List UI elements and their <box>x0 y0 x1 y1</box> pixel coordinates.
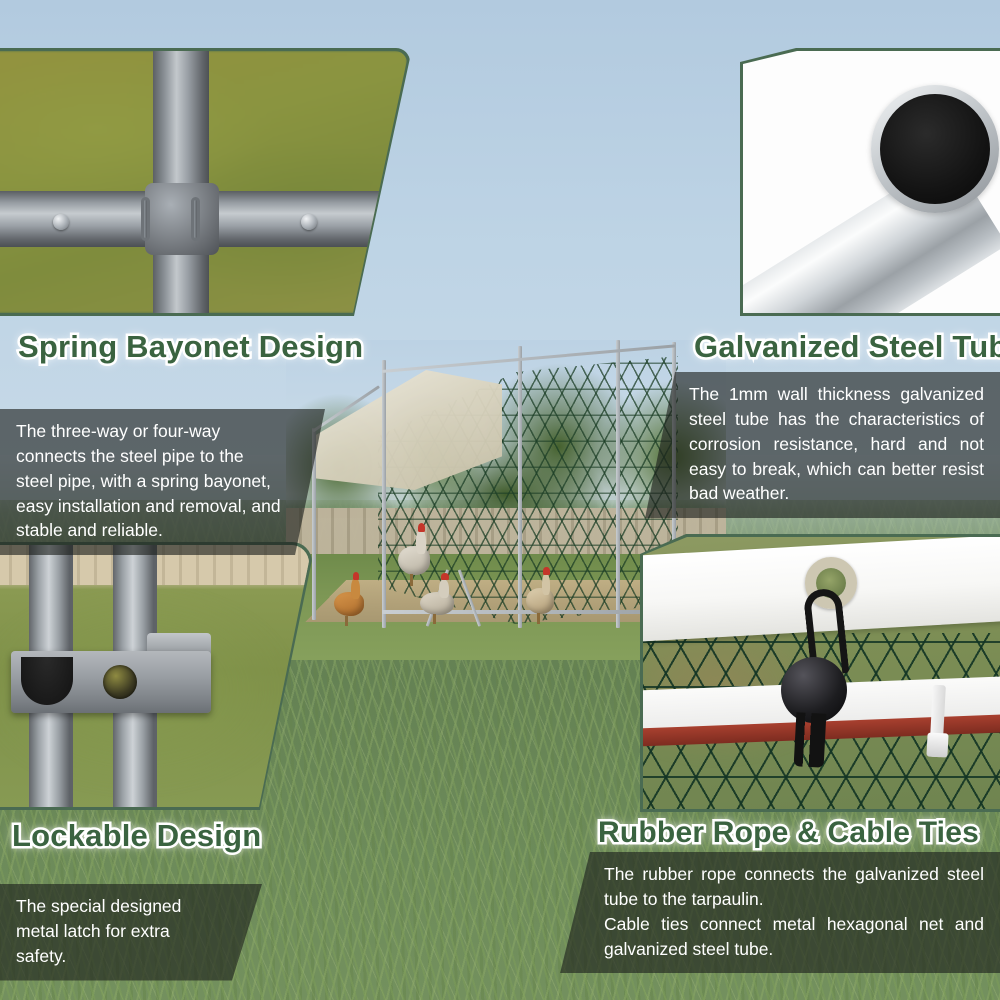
chicken <box>398 546 430 586</box>
galvanized-tube-title: Galvanized Steel Tube <box>694 329 1000 365</box>
galvanized-tube-description-text: The 1mm wall thickness galvanized steel … <box>689 382 984 506</box>
coop-frame-bar <box>382 360 386 628</box>
coop-frame-bar <box>616 340 620 628</box>
rubber-rope-description-line2: Cable ties connect metal hexagonal net a… <box>604 912 984 962</box>
rivet-right <box>301 214 317 230</box>
chicken <box>334 592 364 626</box>
latch-bolt <box>103 665 137 699</box>
spring-bayonet-photo-panel <box>0 48 410 316</box>
galvanized-tube-photo-panel <box>740 48 1000 316</box>
rivet-left <box>53 214 69 230</box>
spring-bayonet-clip <box>191 197 200 241</box>
metal-latch-photo <box>0 545 309 807</box>
spring-bayonet-description-box: The three-way or four-way connects the s… <box>0 409 325 555</box>
galvanized-tube-photo-inner <box>743 51 1000 313</box>
vertical-steel-pipe <box>153 51 209 313</box>
lockable-design-photo-inner <box>0 545 309 807</box>
chicken <box>526 588 554 624</box>
rubber-rope-description-box: The rubber rope connects the galvanized … <box>560 852 1000 973</box>
lockable-design-description-text: The special designed metal latch for ext… <box>16 894 218 969</box>
rubber-rope-description-line1: The rubber rope connects the galvanized … <box>604 862 984 912</box>
spring-bayonet-description-text: The three-way or four-way connects the s… <box>16 419 281 543</box>
coop-frame-bar <box>518 346 522 628</box>
rubber-rope-cable-tie-photo <box>643 537 1000 809</box>
cable-tie-head <box>926 732 948 757</box>
lockable-design-title: Lockable Design <box>12 818 261 854</box>
spring-bayonet-clip <box>141 197 150 241</box>
rubber-rope-title: Rubber Rope & Cable Ties <box>598 816 979 850</box>
lockable-design-photo-panel <box>0 542 312 810</box>
steel-tube-photo <box>743 51 1000 313</box>
pipe-joint-connector <box>145 183 219 255</box>
spring-bayonet-title: Spring Bayonet Design <box>18 329 363 365</box>
rubber-rope-tails <box>794 712 827 767</box>
galvanized-tube-description-box: The 1mm wall thickness galvanized steel … <box>645 372 1000 518</box>
spring-bayonet-photo-inner <box>0 51 407 313</box>
steel-tube-bore <box>880 94 990 204</box>
chicken <box>420 592 454 624</box>
rubber-rope-photo-inner <box>643 537 1000 809</box>
rubber-rope-photo-panel <box>640 534 1000 812</box>
cross-pipe-connector-photo <box>0 51 407 313</box>
lockable-design-description-box: The special designed metal latch for ext… <box>0 884 262 981</box>
